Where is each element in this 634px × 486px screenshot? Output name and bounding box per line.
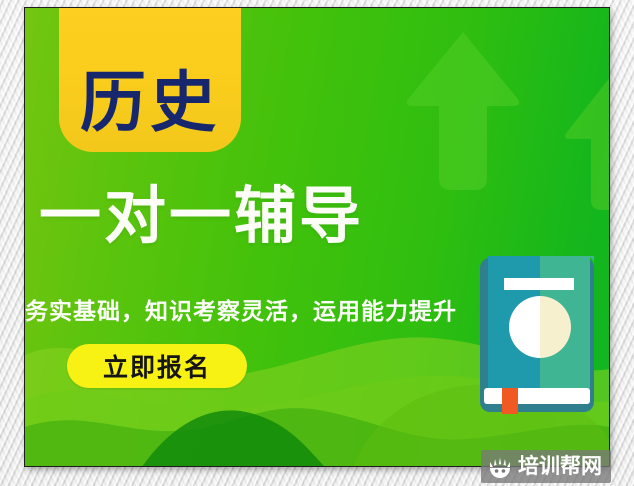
book-icon <box>480 256 594 414</box>
banner-canvas: 历史 一对一辅导 务实基础，知识考察灵活，运用能力提升 立即报名 <box>25 8 609 466</box>
up-arrow-icon-large <box>403 26 523 201</box>
up-arrow-icon-small <box>563 70 609 220</box>
subtitle-text: 务实基础，知识考察灵活，运用能力提升 <box>25 292 457 326</box>
watermark-label: 培训帮网 <box>518 456 602 477</box>
watermark: 培训帮网 <box>481 450 611 483</box>
subject-badge: 历史 <box>59 8 241 152</box>
page-title: 一对一辅导 <box>39 183 364 248</box>
enroll-now-button-label: 立即报名 <box>103 348 211 384</box>
sun-face-icon <box>488 456 512 478</box>
banner-frame: 历史 一对一辅导 务实基础，知识考察灵活，运用能力提升 立即报名 <box>24 7 610 467</box>
enroll-now-button[interactable]: 立即报名 <box>67 344 247 388</box>
subject-badge-label: 历史 <box>80 70 220 136</box>
